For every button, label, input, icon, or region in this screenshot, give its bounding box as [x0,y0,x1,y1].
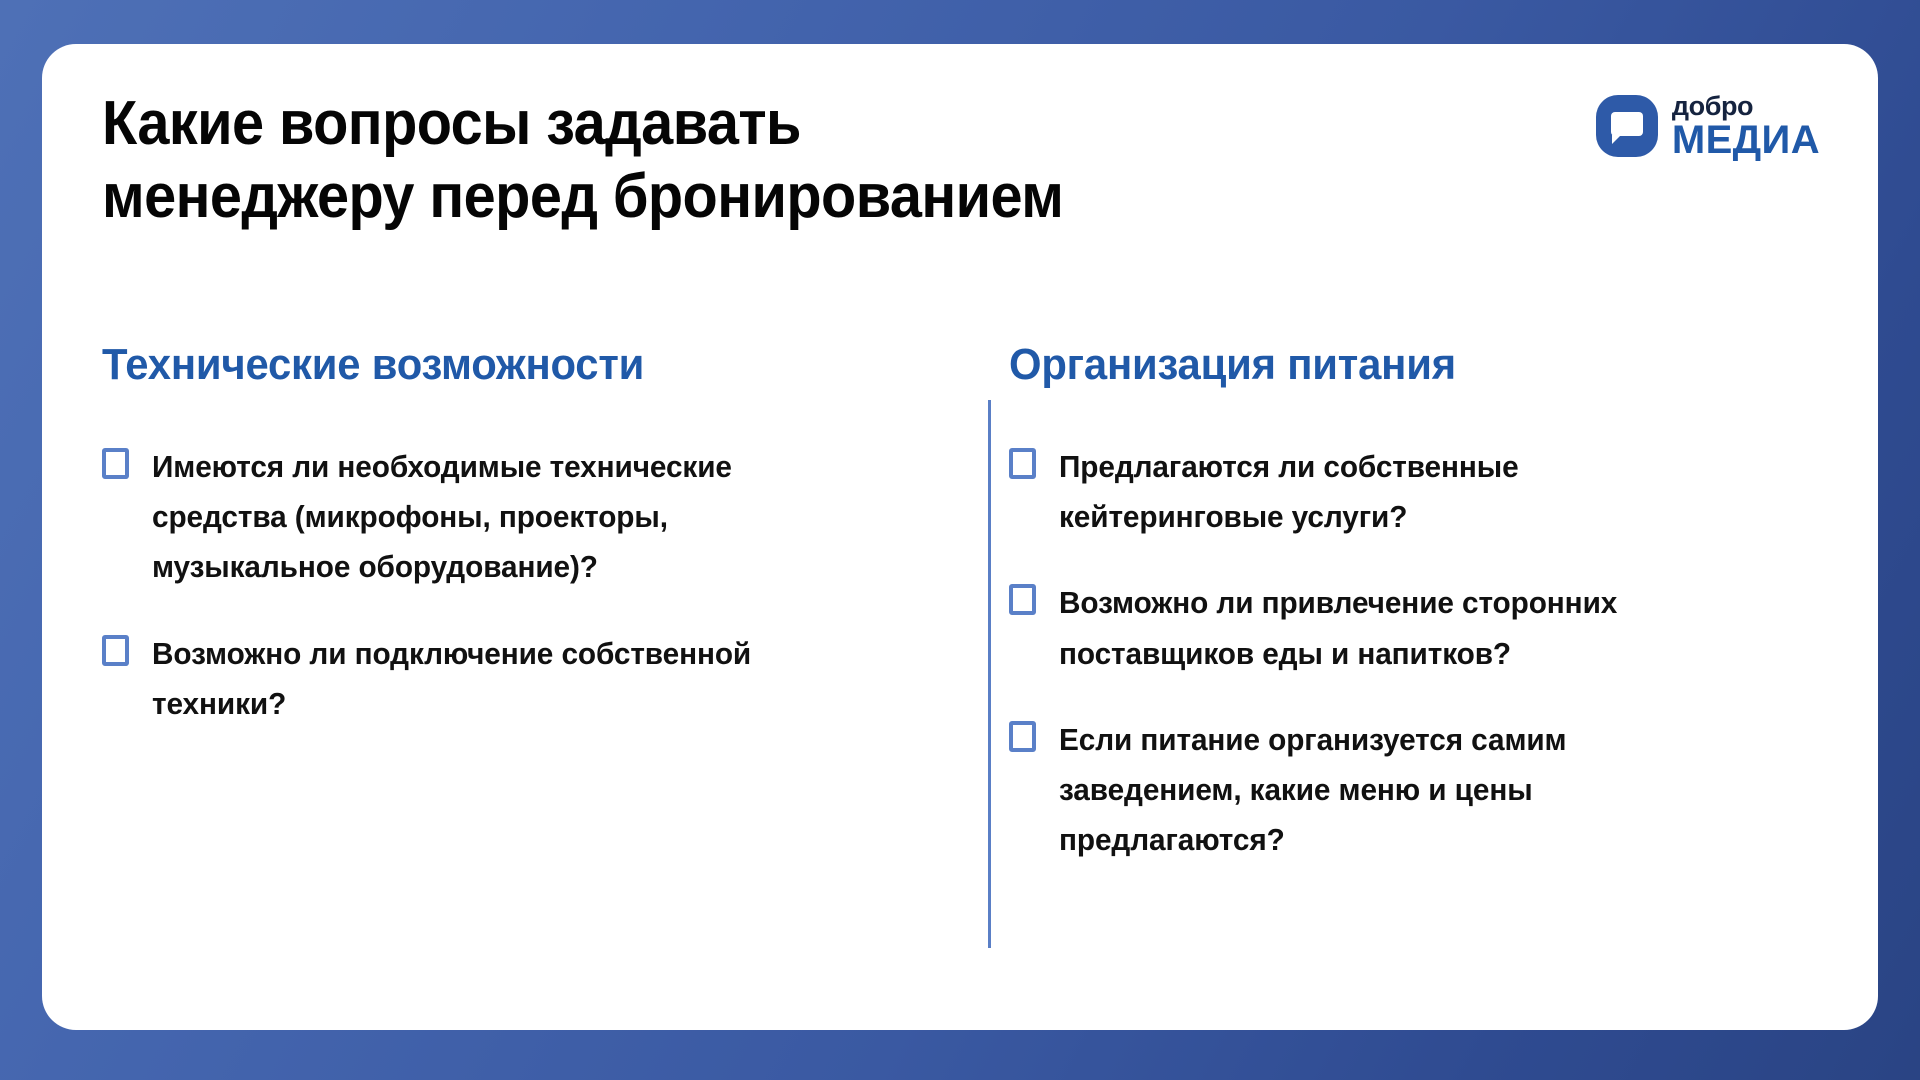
checkbox-icon[interactable] [1009,448,1036,479]
checklist-item-label: Имеются ли необходимые технические средс… [152,442,824,593]
content-card: Какие вопросы задавать менеджеру перед б… [42,44,1878,1030]
checklist-item[interactable]: Если питание организуется самим заведени… [1009,715,1807,866]
speech-bubble-icon [1596,95,1658,157]
brand-logo-text: добро МЕДИА [1672,94,1820,159]
section-heading-catering: Организация питания [1009,340,1767,390]
checklist-technical: Имеются ли необходимые технические средс… [102,442,907,729]
section-heading-technical: Технические возможности [102,340,867,390]
poster-canvas: Какие вопросы задавать менеджеру перед б… [0,0,1920,1080]
column-technical: Технические возможности Имеются ли необх… [102,340,947,866]
checkbox-icon[interactable] [1009,721,1036,752]
checklist-item-label: Если питание организуется самим заведени… [1059,715,1750,866]
speech-bubble-glyph [1611,112,1643,136]
page-title-line-1: Какие вопросы задавать [102,88,1265,161]
checklist-columns: Технические возможности Имеются ли необх… [102,340,1830,866]
page-title: Какие вопросы задавать менеджеру перед б… [102,88,1265,233]
checklist-item[interactable]: Имеются ли необходимые технические средс… [102,442,907,593]
page-title-line-2: менеджеру перед бронированием [102,161,1265,234]
column-catering: Организация питания Предлагаются ли собс… [947,340,1807,866]
checkbox-icon[interactable] [102,448,129,479]
checklist-item[interactable]: Возможно ли привлечение сторонних постав… [1009,578,1807,678]
checklist-item-label: Возможно ли привлечение сторонних постав… [1059,578,1750,678]
brand-logo: добро МЕДИА [1596,94,1820,159]
checkbox-icon[interactable] [102,635,129,666]
brand-word-media: МЕДИА [1672,121,1820,159]
brand-word-dobro: добро [1672,94,1820,120]
checklist-item[interactable]: Предлагаются ли собственные кейтеринговы… [1009,442,1807,542]
checklist-item[interactable]: Возможно ли подключение собственной техн… [102,629,907,729]
checklist-catering: Предлагаются ли собственные кейтеринговы… [1009,442,1807,866]
checkbox-icon[interactable] [1009,584,1036,615]
checklist-item-label: Возможно ли подключение собственной техн… [152,629,824,729]
checklist-item-label: Предлагаются ли собственные кейтеринговы… [1059,442,1750,542]
